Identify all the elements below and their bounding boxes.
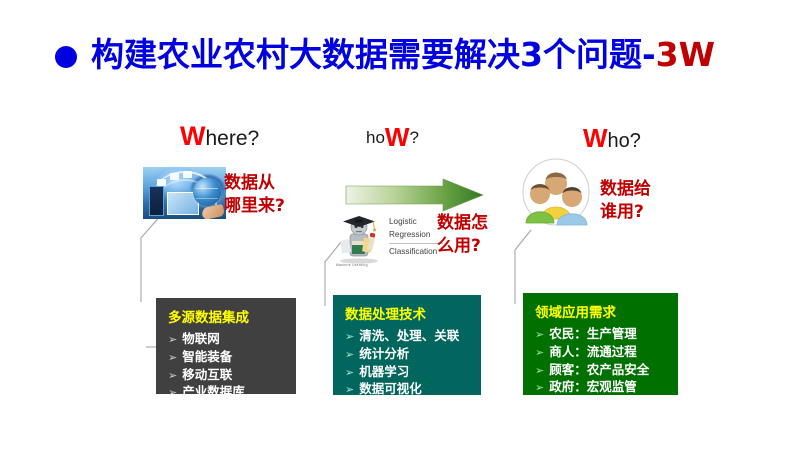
list-item-label: 数据可视化 [359, 380, 422, 398]
ml-line-logistic: Logistic [389, 215, 443, 228]
box-apply-title: 领域应用需求 [535, 301, 668, 321]
ml-image-caption: Machine Learning [336, 263, 368, 267]
green-gradient-arrow [345, 178, 485, 212]
bullet-arrow-icon: ➢ [168, 332, 177, 348]
title-text: 构建农业农村大数据需要解决3个问题-3W [91, 38, 715, 71]
box-source-title: 多源数据集成 [168, 306, 286, 326]
list-item-label: 清洗、处理、关联 [359, 327, 459, 345]
question-who-line1: 数据给 [600, 178, 651, 201]
people-group-avatar [519, 157, 593, 227]
title-bullet-icon [55, 46, 77, 68]
box-domain-application-demand: 领域应用需求 ➢农民：生产管理 ➢商人：流通过程 ➢顾客：农产品安全 ➢政府：宏… [523, 293, 678, 395]
list-item-label: 物联网 [182, 330, 220, 348]
bullet-arrow-icon: ➢ [345, 365, 354, 381]
box-apply-list: ➢农民：生产管理 ➢商人：流通过程 ➢顾客：农产品安全 ➢政府：宏观监管 [535, 325, 668, 396]
list-item: ➢政府：宏观监管 [535, 378, 668, 396]
machine-learning-robot: Machine Learning Logistic Regression Cla… [333, 214, 443, 276]
list-item-label: 农民：生产管理 [549, 325, 637, 343]
network-node-icon [157, 179, 166, 186]
ml-line-regression: Regression [389, 228, 443, 241]
question-how-line2: 么用? [437, 235, 488, 258]
list-item: ➢数据可视化 [345, 380, 471, 398]
ml-line-classification: Classification [389, 245, 443, 258]
list-item-label: 统计分析 [359, 345, 409, 363]
network-node-icon [183, 171, 192, 178]
page-title: 构建农业农村大数据需要解决3个问题-3W [55, 38, 715, 71]
box-process-list: ➢清洗、处理、关联 ➢统计分析 ➢机器学习 ➢数据可视化 [345, 327, 471, 398]
list-item-label: 智能装备 [182, 348, 232, 366]
bullet-arrow-icon: ➢ [345, 382, 354, 398]
bullet-arrow-icon: ➢ [535, 345, 544, 361]
list-item-label: 政府：宏观监管 [549, 378, 637, 396]
bullet-arrow-icon: ➢ [168, 350, 177, 366]
connector-where [110, 212, 170, 304]
label-how-w: W [385, 122, 410, 152]
bullet-arrow-icon: ➢ [535, 380, 544, 396]
list-item: ➢顾客：农产品安全 [535, 361, 668, 379]
label-how-prefix: ho [366, 128, 385, 147]
label-who: Who? [583, 123, 641, 154]
list-item: ➢移动互联 [168, 366, 286, 384]
bullet-arrow-icon: ➢ [345, 329, 354, 345]
question-how-text: 数据怎 么用? [437, 212, 488, 258]
network-globe-photo [143, 167, 226, 219]
question-where-line1: 数据从 [224, 172, 285, 195]
list-item-label: 机器学习 [359, 363, 409, 381]
question-who-line2: 谁用? [600, 201, 651, 224]
graduate-robot-icon [333, 214, 387, 264]
ml-text-lines: Logistic Regression Classification [389, 215, 443, 258]
list-item-label: 商人：流通过程 [549, 343, 637, 361]
bullet-arrow-icon: ➢ [535, 327, 544, 343]
slide-canvas: 构建农业农村大数据需要解决3个问题-3W Where? hoW? Who? 数据… [0, 0, 800, 450]
list-item: ➢产业数据库 [168, 383, 286, 401]
box-source-list: ➢物联网 ➢智能装备 ➢移动互联 ➢产业数据库 [168, 330, 286, 401]
globe-icon [193, 178, 221, 206]
question-where-text: 数据从 哪里来? [224, 172, 285, 218]
bullet-arrow-icon: ➢ [535, 363, 544, 379]
list-item: ➢机器学习 [345, 363, 471, 381]
bullet-arrow-icon: ➢ [345, 347, 354, 363]
label-who-w: W [583, 123, 608, 153]
title-main-text: 构建农业农村大数据需要解决3个问题- [91, 35, 656, 74]
label-how-rest: ? [409, 128, 418, 147]
question-who-text: 数据给 谁用? [600, 178, 651, 224]
bullet-arrow-icon: ➢ [168, 385, 177, 401]
box-process-title: 数据处理技术 [345, 303, 471, 323]
list-item-label: 移动互联 [182, 366, 232, 384]
label-who-rest: ho? [608, 130, 641, 152]
list-item: ➢清洗、处理、关联 [345, 327, 471, 345]
list-item: ➢农民：生产管理 [535, 325, 668, 343]
label-where-rest: here? [205, 127, 259, 150]
list-item: ➢物联网 [168, 330, 286, 348]
list-item: ➢统计分析 [345, 345, 471, 363]
list-item: ➢智能装备 [168, 348, 286, 366]
question-how-line1: 数据怎 [437, 212, 488, 235]
ml-divider [389, 243, 443, 244]
label-where-w: W [180, 121, 205, 151]
bullet-arrow-icon: ➢ [168, 368, 177, 384]
label-how: hoW? [366, 128, 419, 148]
network-node-icon [170, 173, 179, 180]
list-item: ➢商人：流通过程 [535, 343, 668, 361]
question-where-line2: 哪里来? [224, 195, 285, 218]
box-data-processing-tech: 数据处理技术 ➢清洗、处理、关联 ➢统计分析 ➢机器学习 ➢数据可视化 [333, 295, 481, 395]
box-multi-source-integration: 多源数据集成 ➢物联网 ➢智能装备 ➢移动互联 ➢产业数据库 [156, 298, 296, 394]
server-rack-icon [149, 186, 164, 216]
list-item-label: 产业数据库 [182, 383, 245, 401]
title-accent-text: 3W [656, 35, 715, 74]
list-item-label: 顾客：农产品安全 [549, 361, 649, 379]
label-where: Where? [180, 121, 259, 152]
